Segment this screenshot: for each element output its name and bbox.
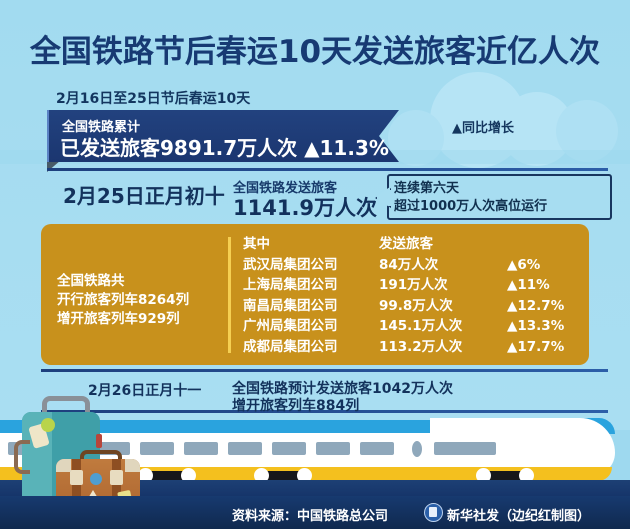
row3-line2: 增开旅客列车884列 (232, 395, 359, 415)
table-row: 广州局集团公司145.1万人次▲13.3% (243, 317, 597, 338)
footer-publisher: 新华社发（边纪红制图） (447, 505, 590, 524)
period-subtitle: 2月16日至25日节后春运10天 (56, 88, 250, 108)
train-window (140, 442, 174, 455)
train-window (228, 442, 262, 455)
header-name: 其中 (243, 235, 379, 256)
cell-pct: ▲12.7% (507, 297, 597, 318)
table-header-row: 其中 发送旅客 (243, 235, 597, 256)
cell-value: 99.8万人次 (379, 297, 507, 318)
luggage-sticker (41, 418, 55, 432)
cell-name: 上海局集团公司 (243, 276, 379, 297)
panel-left-line1: 全国铁路共 (57, 272, 189, 291)
train-cab-window (434, 442, 496, 455)
page-title: 全国铁路节后春运10天发送旅客近亿人次 (0, 26, 630, 71)
divider-bottom (41, 369, 608, 372)
callout-line2: 超过1000万人次高位运行 (394, 195, 547, 214)
divider-top (47, 168, 608, 171)
suitcase-corner (56, 459, 71, 472)
train-window (316, 442, 350, 455)
header-pct (507, 235, 597, 256)
row2-date: 2月25日正月初十 (63, 180, 225, 209)
cell-pct: ▲17.7% (507, 338, 597, 359)
callout-line1: 连续第六天 (394, 177, 459, 196)
bureau-table: 其中 发送旅客 武汉局集团公司84万人次▲6%上海局集团公司191万人次▲11%… (243, 235, 597, 358)
header-value: 发送旅客 (379, 235, 507, 256)
train-door-window (412, 441, 422, 457)
cell-value: 113.2万人次 (379, 338, 507, 359)
table-row: 成都局集团公司113.2万人次▲17.7% (243, 338, 597, 359)
suitcase-buckle (70, 470, 83, 485)
cell-value: 84万人次 (379, 256, 507, 277)
suitcase-corner (125, 459, 140, 472)
cell-value: 191万人次 (379, 276, 507, 297)
panel-left-line2: 开行旅客列车8264列 (57, 291, 189, 310)
suitcase-buckle (110, 470, 123, 485)
legend-growth: ▲同比增长 (452, 117, 514, 136)
footer-source: 资料来源：中国铁路总公司 (232, 505, 388, 524)
table-row: 南昌局集团公司99.8万人次▲12.7% (243, 297, 597, 318)
cell-name: 广州局集团公司 (243, 317, 379, 338)
suitcase-side-grip (14, 440, 30, 474)
cell-name: 成都局集团公司 (243, 338, 379, 359)
train-window (360, 442, 394, 455)
row2-value: 1141.9万人次 (233, 192, 377, 222)
cell-name: 南昌局集团公司 (243, 297, 379, 318)
panel-left-text: 全国铁路共 开行旅客列车8264列 增开旅客列车929列 (57, 272, 189, 329)
cell-pct: ▲13.3% (507, 317, 597, 338)
table-row: 武汉局集团公司84万人次▲6% (243, 256, 597, 277)
cell-pct: ▲6% (507, 256, 597, 277)
infographic-page: 全国铁路节后春运10天发送旅客近亿人次 2月16日至25日节后春运10天 全国铁… (0, 0, 630, 529)
cell-pct: ▲11% (507, 276, 597, 297)
panel-divider (228, 237, 231, 353)
table-row: 上海局集团公司191万人次▲11% (243, 276, 597, 297)
ribbon-line2: 已发送旅客9891.7万人次 ▲11.3% (60, 132, 389, 161)
panel-left-line3: 增开旅客列车929列 (57, 310, 189, 329)
train-window (272, 442, 306, 455)
row3-date: 2月26日正月十一 (88, 380, 201, 400)
train-window (184, 442, 218, 455)
table-body: 武汉局集团公司84万人次▲6%上海局集团公司191万人次▲11%南昌局集团公司9… (243, 256, 597, 359)
cell-value: 145.1万人次 (379, 317, 507, 338)
suitcase-latch (96, 434, 102, 448)
suitcase-sticker (90, 473, 102, 485)
cell-name: 武汉局集团公司 (243, 256, 379, 277)
xinhua-logo-icon (424, 503, 443, 522)
